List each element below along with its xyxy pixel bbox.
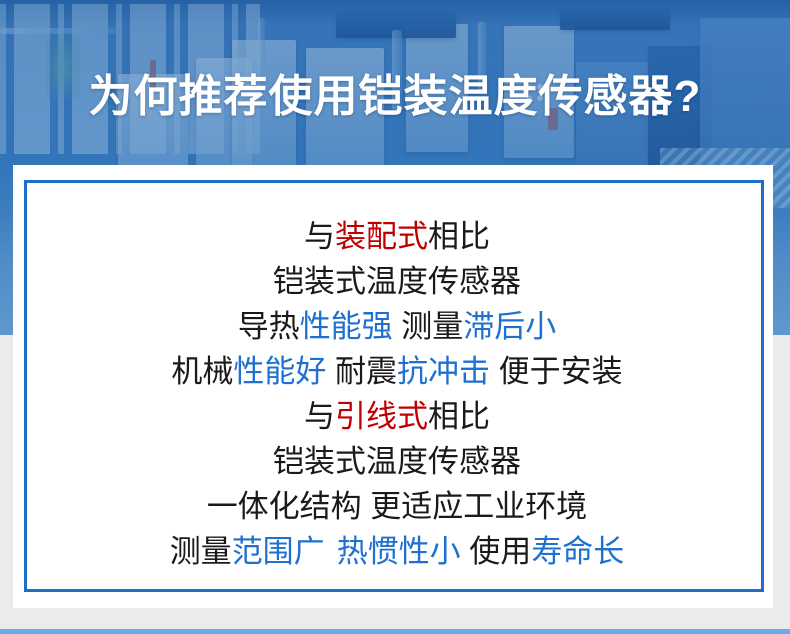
text-segment: 便于安装 — [490, 354, 623, 389]
feature-line-measurement-range: 测量范围广热惯性小 使用寿命长 — [27, 529, 767, 574]
footer-blue-rule — [0, 629, 790, 634]
feature-line-thermal-conductivity: 导热性能强 测量滞后小 — [27, 304, 767, 349]
text-segment: 使用 — [461, 534, 532, 569]
text-segment: 耐震 — [326, 354, 397, 389]
text-segment: 相比 — [428, 399, 490, 434]
text-segment: 铠装式温度传感器 — [273, 444, 521, 479]
footer-gray-band — [0, 608, 790, 629]
text-segment-highlight: 抗冲击 — [397, 354, 490, 389]
text-segment: 测量 — [170, 534, 232, 569]
text-segment: 相比 — [428, 219, 490, 254]
feature-line-compare-leadwire: 与引线式相比 — [27, 394, 767, 439]
text-segment-highlight: 热惯性小 — [337, 534, 461, 569]
text-segment: 一体化结构 更适应工业环境 — [207, 489, 588, 524]
text-segment: 与 — [304, 219, 335, 254]
text-segment-highlight: 性能好 — [233, 354, 326, 389]
content-border-frame: 与装配式相比 铠装式温度传感器 导热性能强 测量滞后小 机械性能好 耐震抗冲击 … — [24, 180, 764, 592]
feature-line-integrated-structure: 一体化结构 更适应工业环境 — [27, 484, 767, 529]
text-segment-highlight: 范围广 — [232, 534, 325, 569]
text-segment: 机械 — [171, 354, 233, 389]
text-segment: 与 — [304, 399, 335, 434]
text-segment: 导热 — [238, 309, 300, 344]
text-segment-highlight: 滞后小 — [463, 309, 556, 344]
text-segment-highlight: 性能强 — [300, 309, 393, 344]
content-card: 与装配式相比 铠装式温度传感器 导热性能强 测量滞后小 机械性能好 耐震抗冲击 … — [13, 165, 773, 608]
text-segment-highlight: 引线式 — [335, 399, 428, 434]
text-segment-highlight: 装配式 — [335, 219, 428, 254]
feature-line-compare-assembled: 与装配式相比 — [27, 214, 767, 259]
feature-line-mechanical: 机械性能好 耐震抗冲击 便于安装 — [27, 349, 767, 394]
product-detail-page: 为何推荐使用铠装温度传感器? 与装配式相比 铠装式温度传感器 导热性能强 测量滞… — [0, 0, 790, 634]
page-title: 为何推荐使用铠装温度传感器? — [0, 69, 790, 125]
feature-line-product-name-2: 铠装式温度传感器 — [27, 439, 767, 484]
feature-line-product-name-1: 铠装式温度传感器 — [27, 259, 767, 304]
feature-text-block: 与装配式相比 铠装式温度传感器 导热性能强 测量滞后小 机械性能好 耐震抗冲击 … — [27, 214, 767, 574]
text-segment: 铠装式温度传感器 — [273, 264, 521, 299]
text-segment: 测量 — [393, 309, 464, 344]
text-segment-highlight: 寿命长 — [531, 534, 624, 569]
